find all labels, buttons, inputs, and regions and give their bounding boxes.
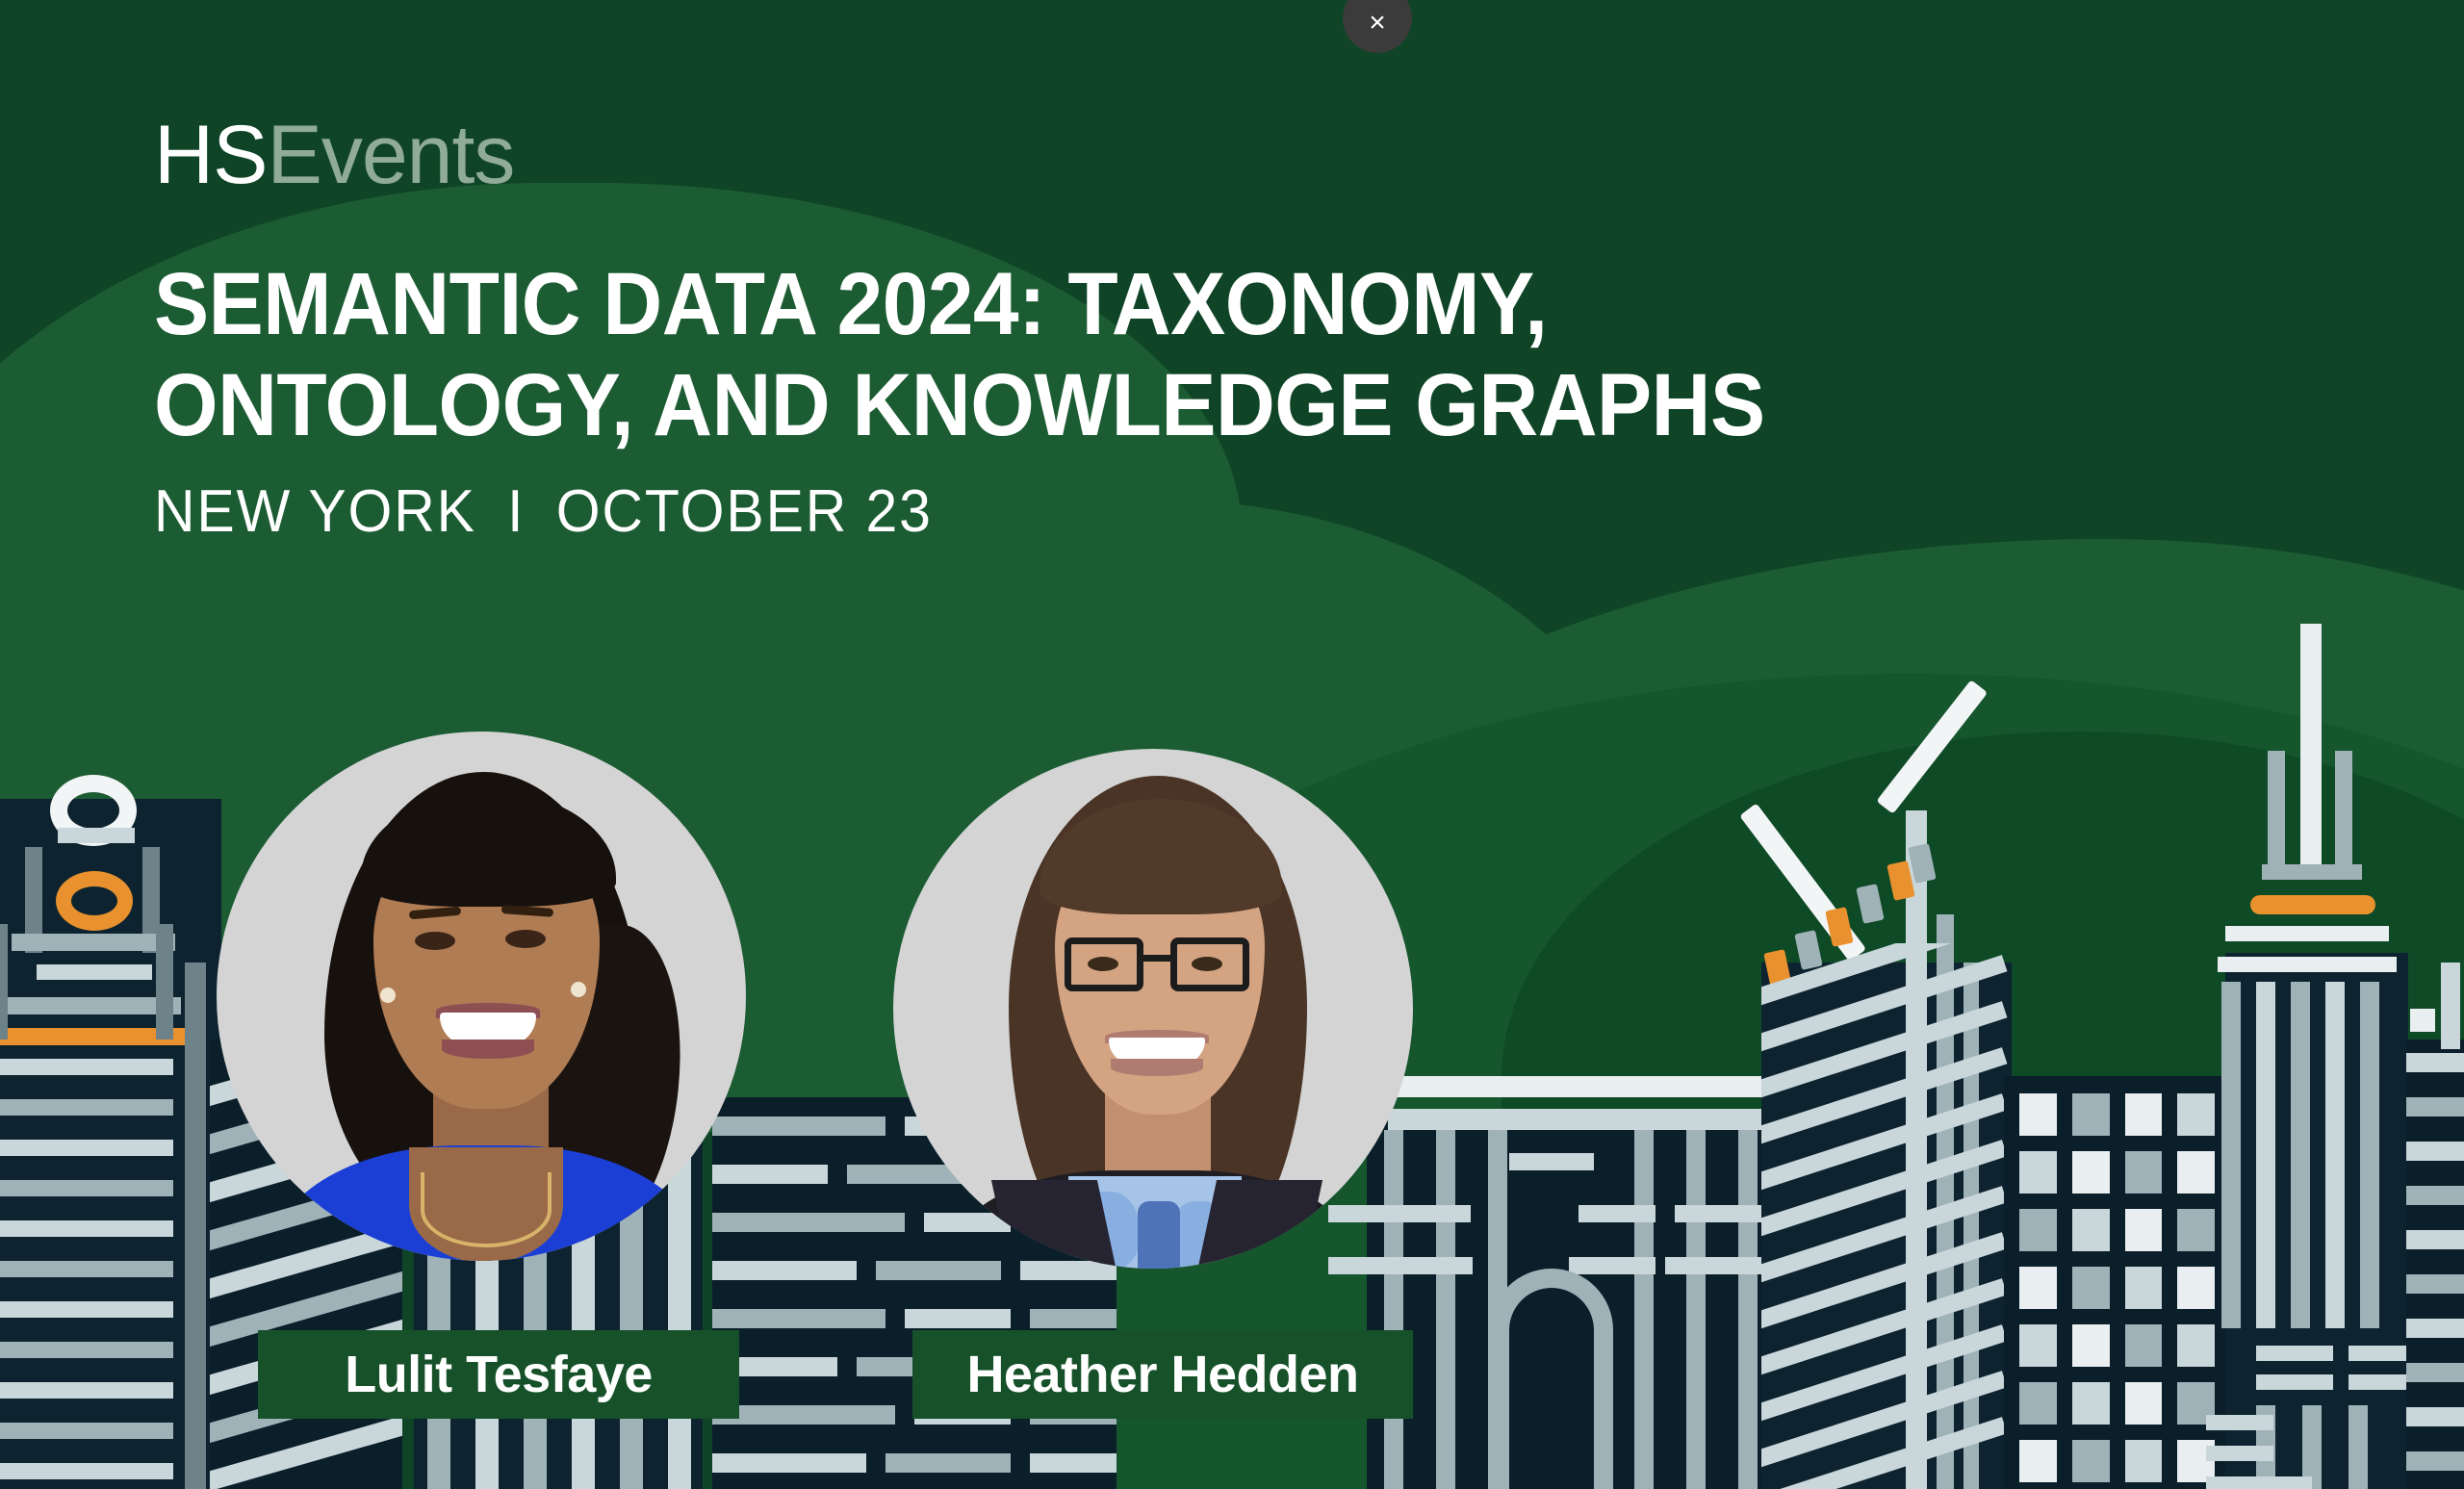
speaker-2-avatar xyxy=(893,749,1413,1269)
event-header: HSEvents SEMANTIC DATA 2024: TAXONOMY, O… xyxy=(154,114,1886,546)
speaker-2-glasses-bridge xyxy=(1142,955,1172,962)
building-peak-diagonal-stripes xyxy=(1761,943,2012,1489)
building-left-orange-ring xyxy=(56,871,133,931)
building-spire-ledge-2 xyxy=(2218,957,2397,972)
event-title-line-1: SEMANTIC DATA 2024: TAXONOMY, xyxy=(154,255,1548,353)
building-arch-rail-6 xyxy=(1569,1257,1655,1274)
building-left-band-stack xyxy=(0,1059,192,1489)
speaker-1-eye-right xyxy=(505,930,546,948)
speaker-card-1 xyxy=(217,732,746,1261)
building-left-side-pillar-a xyxy=(0,924,8,1040)
building-spire-collar xyxy=(2262,864,2362,880)
building-arch-rail-3 xyxy=(1578,1205,1655,1222)
building-spire-mast-side-r xyxy=(2335,751,2352,876)
building-far-right-bands xyxy=(2406,1040,2464,1489)
event-date: OCTOBER 23 xyxy=(556,478,933,545)
event-location: NEW YORK xyxy=(154,478,476,545)
building-spire-orange-ring xyxy=(2250,895,2375,914)
speaker-2-glasses-right-lens xyxy=(1170,937,1249,991)
building-left-crown-bar xyxy=(58,828,135,843)
event-subtitle: NEW YORKIOCTOBER 23 xyxy=(154,477,1800,546)
speaker-1-name: Lulit Tesfaye xyxy=(345,1345,653,1404)
event-title-line-2: ONTOLOGY, AND KNOWLEDGE GRAPHS xyxy=(154,356,1765,454)
speaker-2-glasses-left-lens xyxy=(1065,937,1143,991)
speaker-2-name-chip: Heather Hedden xyxy=(912,1330,1413,1419)
building-arch-roof xyxy=(1382,1076,1786,1097)
building-far-right-notch xyxy=(2410,1009,2435,1032)
speaker-1-earring-left xyxy=(380,988,396,1003)
building-left-ledge-1 xyxy=(12,934,175,951)
speaker-2-shirt-placket xyxy=(1138,1201,1180,1269)
speaker-1-lip-bottom xyxy=(442,1040,534,1059)
building-left-ledge-2 xyxy=(37,964,152,980)
speaker-2-lip-bottom xyxy=(1111,1059,1203,1076)
speaker-2-name: Heather Hedden xyxy=(966,1345,1358,1404)
building-spire-ledge-1 xyxy=(2225,926,2389,941)
building-peak-roof-right xyxy=(1876,680,1988,814)
hsevents-logo: HSEvents xyxy=(154,114,1886,196)
speaker-1-necklace xyxy=(421,1172,552,1247)
building-spire-mast xyxy=(2300,624,2322,864)
event-title: SEMANTIC DATA 2024: TAXONOMY, ONTOLOGY, … xyxy=(154,254,1765,456)
building-spire-mast-side-l xyxy=(2268,751,2285,876)
close-icon: × xyxy=(1369,9,1386,38)
speaker-1-name-chip: Lulit Tesfaye xyxy=(258,1330,739,1419)
building-far-right-mast xyxy=(2441,963,2460,1049)
logo-text-primary: HS xyxy=(154,109,267,201)
speaker-card-2 xyxy=(893,749,1413,1269)
building-arch-cornice xyxy=(1388,1109,1783,1130)
building-arch-keystone xyxy=(1509,1153,1594,1170)
event-promo-banner: HSEvents SEMANTIC DATA 2024: TAXONOMY, O… xyxy=(0,0,2464,1489)
logo-text-secondary: Events xyxy=(267,109,514,201)
speaker-1-hairline xyxy=(361,791,616,907)
speaker-1-earring-right xyxy=(571,982,586,997)
speaker-1-avatar xyxy=(217,732,746,1261)
event-subtitle-separator: I xyxy=(476,477,556,546)
speaker-1-eye-left xyxy=(415,932,455,950)
building-left-ledge-3 xyxy=(6,997,181,1014)
building-arch-opening xyxy=(1490,1269,1613,1489)
building-spire-body-columns xyxy=(2214,982,2416,1489)
building-left-side-pillar-b xyxy=(156,924,173,1040)
